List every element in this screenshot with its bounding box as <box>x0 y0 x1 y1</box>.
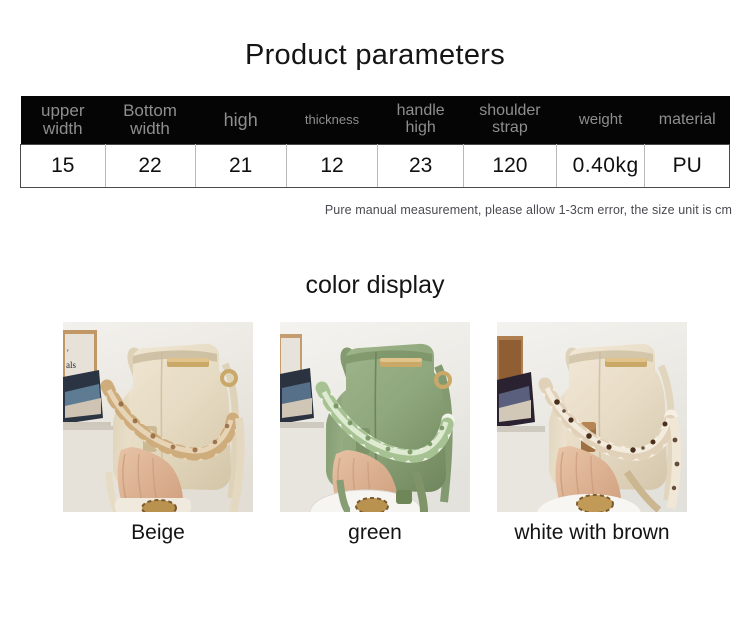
value-thickness: 12 <box>286 145 377 188</box>
value-material: PU <box>645 145 730 188</box>
page-title: Product parameters <box>0 0 750 72</box>
header-material: material <box>645 96 730 145</box>
value-weight-text: 0.40kg <box>573 154 639 178</box>
table-value-row: 15 22 21 12 23 120 0.40kg PU <box>21 145 730 188</box>
color-option-green[interactable]: green <box>280 322 470 544</box>
header-bottom-width: Bottom width <box>105 96 195 145</box>
product-parameters-table: upper width Bottom width high thickness … <box>20 96 730 189</box>
value-high: 21 <box>195 145 286 188</box>
header-thickness: thickness <box>286 96 377 145</box>
product-photo-green[interactable] <box>280 322 470 512</box>
product-photo-white-with-brown[interactable] <box>497 322 687 512</box>
color-option-beige[interactable]: ' als <box>63 322 253 544</box>
color-display-title: color display <box>0 217 750 300</box>
value-weight: 0.40kg <box>556 145 645 188</box>
color-label-white-with-brown: white with brown <box>514 521 669 544</box>
value-handle-high: 23 <box>378 145 464 188</box>
value-bottom-width: 22 <box>105 145 195 188</box>
value-upper-width: 15 <box>21 145 106 188</box>
header-high: high <box>195 96 286 145</box>
color-swatch-row: ' als <box>0 322 750 544</box>
svg-text:als: als <box>66 360 76 370</box>
table-header-row: upper width Bottom width high thickness … <box>21 96 730 145</box>
header-shoulder-strap: shoulder strap <box>464 96 557 145</box>
measurement-note: Pure manual measurement, please allow 1-… <box>0 203 732 217</box>
color-label-green: green <box>348 521 402 544</box>
spec-table-container: upper width Bottom width high thickness … <box>20 96 730 189</box>
header-upper-width: upper width <box>21 96 106 145</box>
value-shoulder-strap: 120 <box>464 145 557 188</box>
color-label-beige: Beige <box>131 521 185 544</box>
header-handle-high: handle high <box>378 96 464 145</box>
color-option-white-with-brown[interactable]: white with brown <box>497 322 687 544</box>
header-weight: weight <box>556 96 645 145</box>
product-photo-beige[interactable]: ' als <box>63 322 253 512</box>
